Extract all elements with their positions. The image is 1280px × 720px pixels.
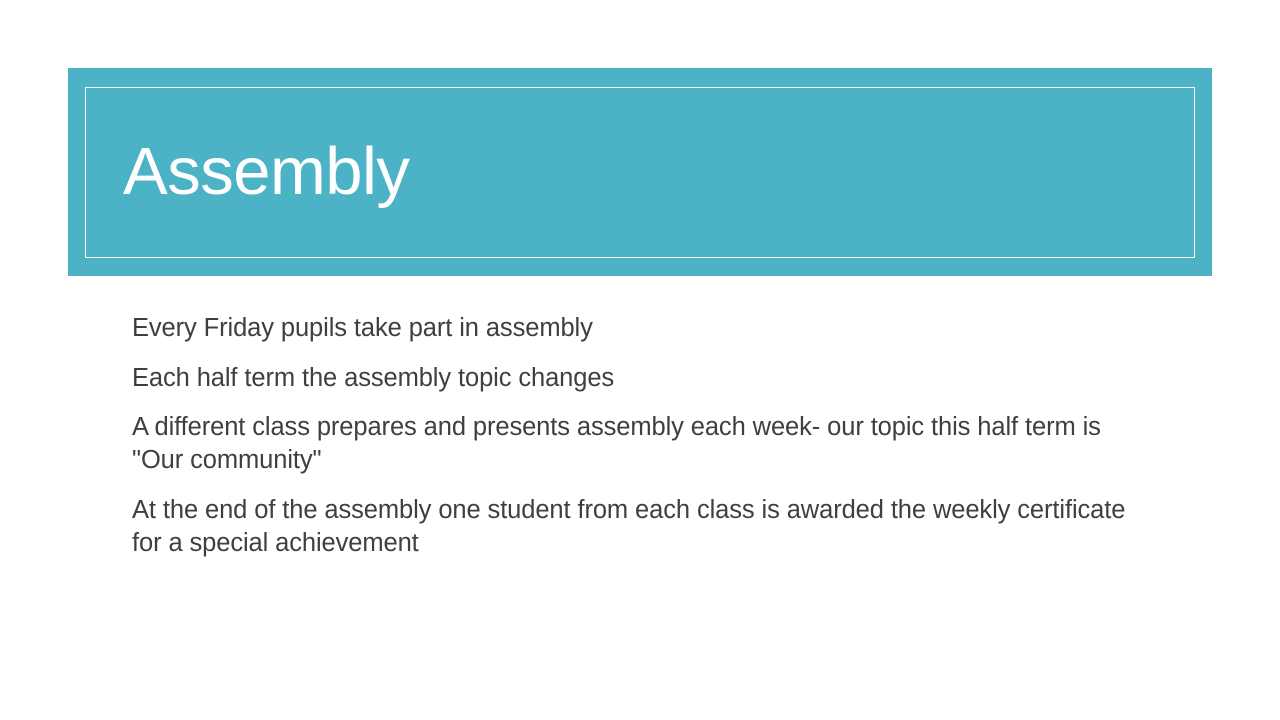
slide-body: Every Friday pupils take part in assembl… bbox=[132, 312, 1144, 560]
title-banner: Assembly bbox=[68, 68, 1212, 276]
body-paragraph-1: Every Friday pupils take part in assembl… bbox=[132, 312, 1144, 345]
slide: Assembly Every Friday pupils take part i… bbox=[0, 0, 1280, 720]
body-paragraph-3: A different class prepares and presents … bbox=[132, 411, 1144, 477]
body-paragraph-2: Each half term the assembly topic change… bbox=[132, 362, 1144, 395]
body-paragraph-4: At the end of the assembly one student f… bbox=[132, 494, 1144, 560]
slide-title: Assembly bbox=[123, 137, 409, 207]
